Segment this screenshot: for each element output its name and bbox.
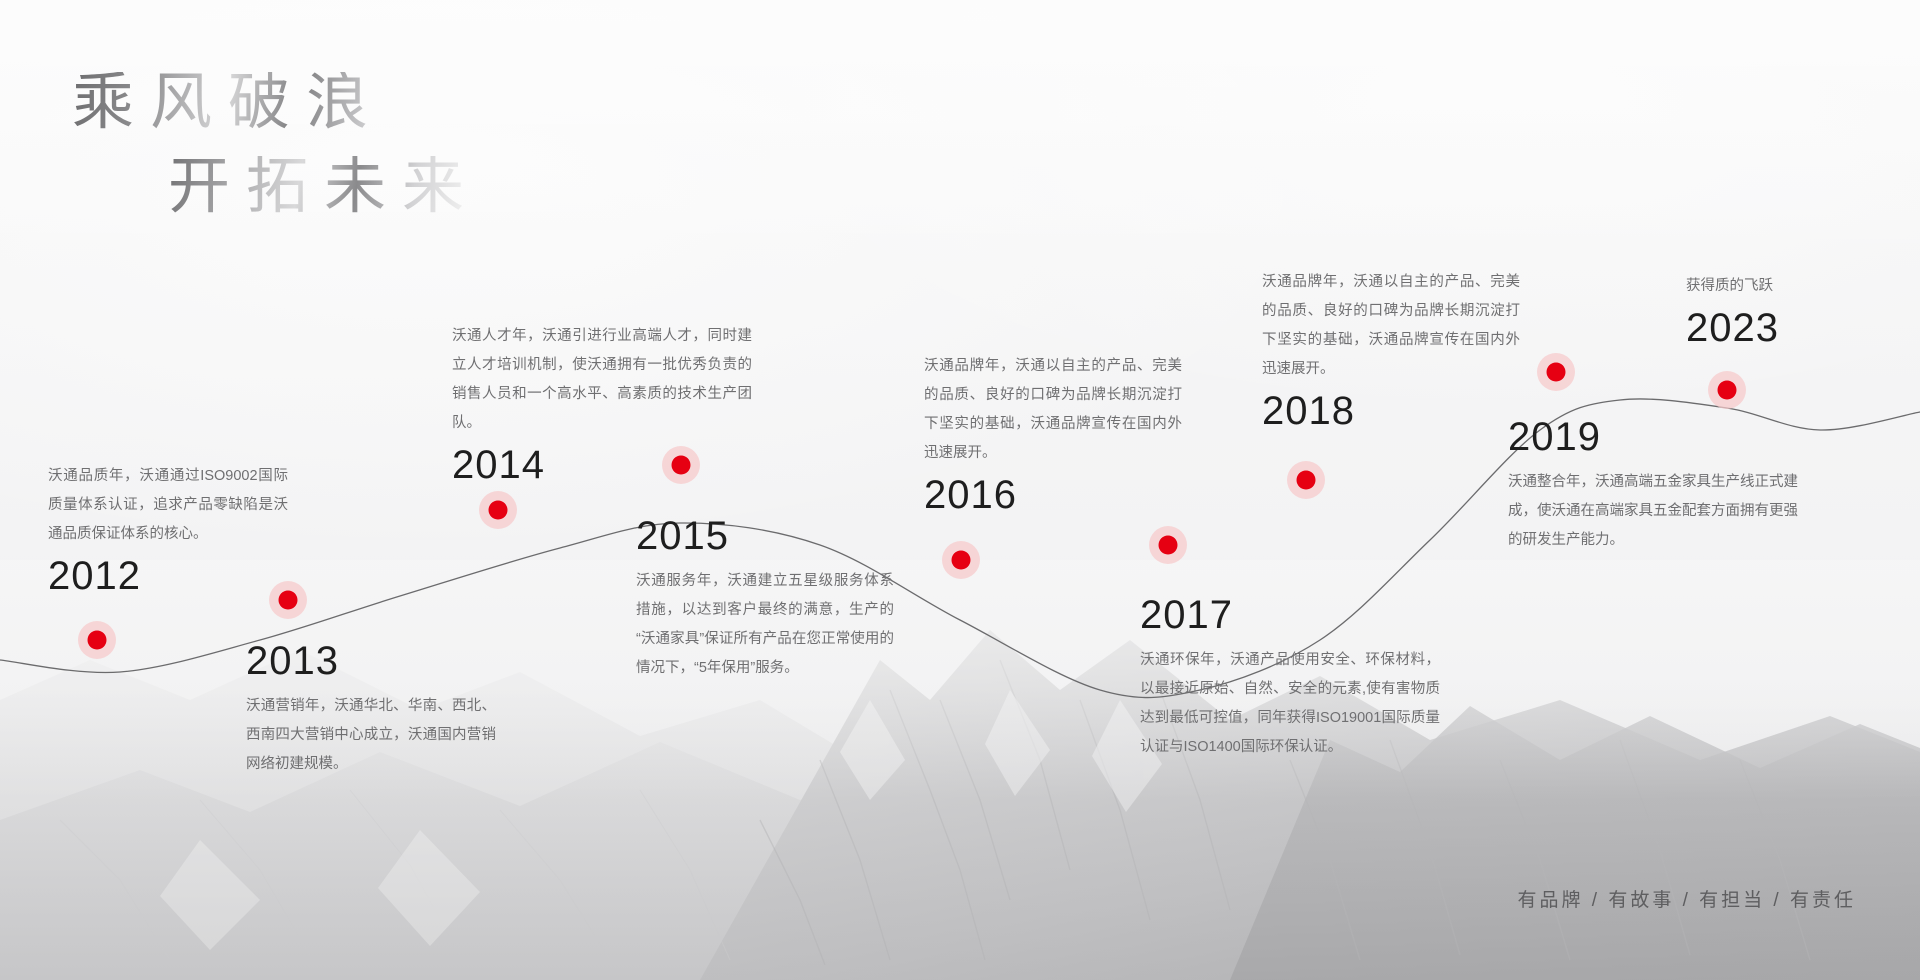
milestone-description-2013: 沃通营销年，沃通华北、华南、西北、西南四大营销中心成立，沃通国内营销网络初建规模… [246,692,496,779]
milestone-year-2015: 2015 [636,515,894,557]
milestone-description-2014: 沃通人才年，沃通引进行业高端人才，同时建立人才培训机制，使沃通拥有一批优秀负责的… [452,322,752,438]
milestone-year-2017: 2017 [1140,594,1440,636]
milestone-year-2018: 2018 [1262,390,1520,432]
milestone-year-2014: 2014 [452,444,752,486]
milestone-year-2016: 2016 [924,474,1182,516]
timeline-dot-2012[interactable] [88,631,107,650]
milestone-description-2017: 沃通环保年，沃通产品使用安全、环保材料，以最接近原始、自然、安全的元素,使有害物… [1140,646,1440,762]
timeline-dot-2018[interactable] [1297,471,1316,490]
milestone-year-2013: 2013 [246,640,496,682]
milestone-description-2018: 沃通品牌年，沃通以自主的产品、完美的品质、良好的口碑为品牌长期沉淀打下坚实的基础… [1262,268,1520,384]
milestone-2016[interactable]: 沃通品牌年，沃通以自主的产品、完美的品质、良好的口碑为品牌长期沉淀打下坚实的基础… [924,352,1182,516]
milestone-year-2012: 2012 [48,555,288,597]
milestone-2018[interactable]: 沃通品牌年，沃通以自主的产品、完美的品质、良好的口碑为品牌长期沉淀打下坚实的基础… [1262,268,1520,432]
milestone-description-2019: 沃通整合年，沃通高端五金家具生产线正式建成，使沃通在高端家具五金配套方面拥有更强… [1508,468,1798,555]
milestone-description-2016: 沃通品牌年，沃通以自主的产品、完美的品质、良好的口碑为品牌长期沉淀打下坚实的基础… [924,352,1182,468]
timeline-dot-2023[interactable] [1718,381,1737,400]
footer-slogan: 有品牌 / 有故事 / 有担当 / 有责任 [1517,885,1856,912]
milestone-description-2012: 沃通品质年，沃通通过ISO9002国际质量体系认证，追求产品零缺陷是沃通品质保证… [48,462,288,549]
timeline-poster: 乘风破浪 开拓未来 沃通品质年，沃通通过ISO9002国际质量体系认证，追求产品… [0,0,1920,980]
milestone-2014[interactable]: 沃通人才年，沃通引进行业高端人才，同时建立人才培训机制，使沃通拥有一批优秀负责的… [452,322,752,486]
milestone-2017[interactable]: 2017沃通环保年，沃通产品使用安全、环保材料，以最接近原始、自然、安全的元素,… [1140,594,1440,762]
timeline-dot-2019[interactable] [1547,363,1566,382]
milestone-2013[interactable]: 2013沃通营销年，沃通华北、华南、西北、西南四大营销中心成立，沃通国内营销网络… [246,640,496,779]
milestone-year-2023: 2023 [1686,307,1906,349]
timeline-dot-2017[interactable] [1159,536,1178,555]
timeline-dot-2014[interactable] [489,501,508,520]
milestone-description-2015: 沃通服务年，沃通建立五星级服务体系措施，以达到客户最终的满意，生产的“沃通家具”… [636,567,894,683]
milestone-2019[interactable]: 2019沃通整合年，沃通高端五金家具生产线正式建成，使沃通在高端家具五金配套方面… [1508,416,1798,555]
milestone-2023[interactable]: 获得质的飞跃2023 [1686,272,1906,349]
milestone-2015[interactable]: 2015沃通服务年，沃通建立五星级服务体系措施，以达到客户最终的满意，生产的“沃… [636,515,894,683]
milestone-2012[interactable]: 沃通品质年，沃通通过ISO9002国际质量体系认证，追求产品零缺陷是沃通品质保证… [48,462,288,597]
milestone-year-2019: 2019 [1508,416,1798,458]
milestone-description-2023: 获得质的飞跃 [1686,272,1906,301]
timeline-dot-2016[interactable] [952,551,971,570]
